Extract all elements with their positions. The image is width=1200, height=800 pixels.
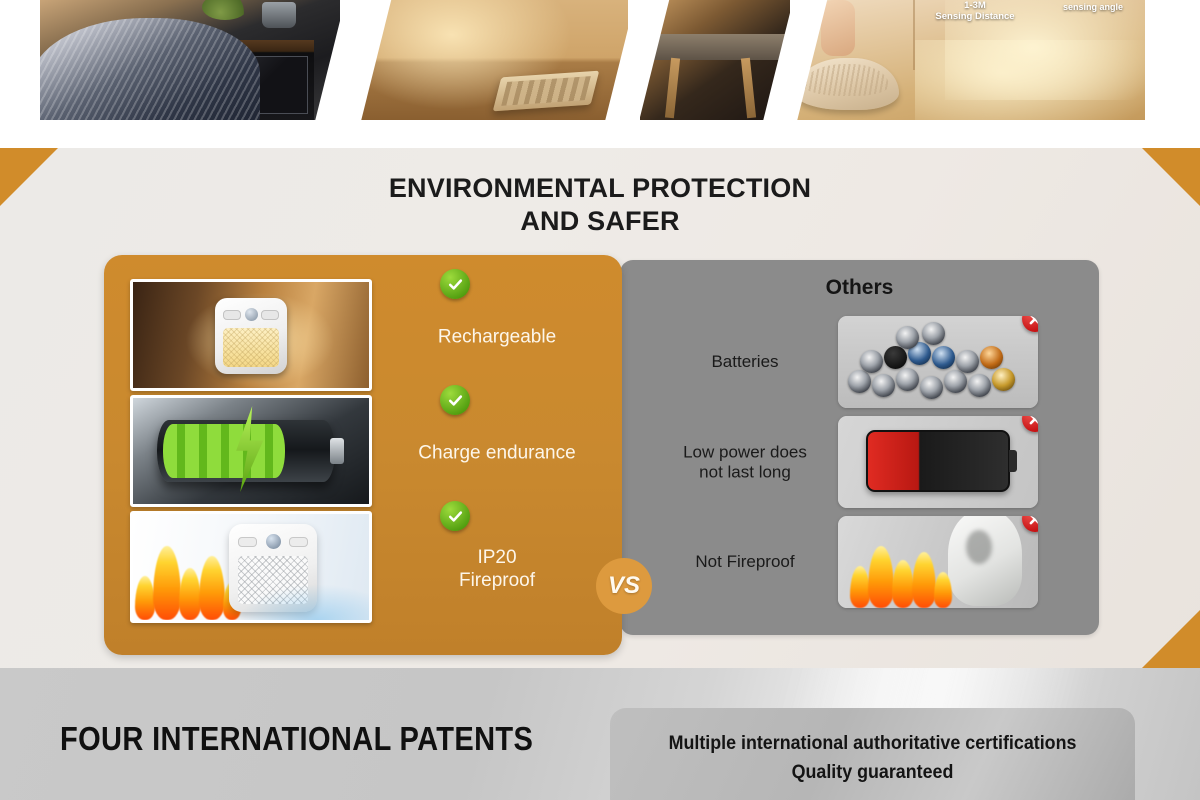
strip-base [0,120,1200,148]
certification-line2: Quality guaranteed [626,759,1120,788]
nightlight-image [133,282,369,388]
infographic-page: 1-3M Sensing Distance sensing angle ENVI… [0,0,1200,800]
certification-text: Multiple international authoritative cer… [626,730,1120,787]
depleted-battery-icon [866,430,1010,492]
decor-plant [202,0,248,20]
photo-bedroom-nightstand [40,0,340,120]
others-heading: Others [620,276,1099,300]
ours-row-label: IP20 Fireproof [394,546,600,592]
certification-line1: Multiple international authoritative cer… [626,730,1120,759]
ours-row-fireproof: IP20 Fireproof [104,511,622,627]
section-title-line2: AND SAFER [0,205,1200,238]
section-title-line1: ENVIRONMENTAL PROTECTION [0,172,1200,205]
water-splash [239,584,369,620]
others-row-notfireproof: Not Fireproof [620,516,1099,608]
sensing-distance-caption: Sensing Distance [920,12,1030,23]
photo-strip: 1-3M Sensing Distance sensing angle [0,0,1200,148]
comparison-section: ENVIRONMENTAL PROTECTION AND SAFER Other… [0,148,1200,668]
green-battery-image [133,398,369,504]
check-icon [440,385,470,415]
patents-heading: FOUR INTERNATIONAL PATENTS [60,720,533,758]
others-row-lowpower: Low power does not last long [620,416,1099,508]
charge-endurance-thumbnail [130,395,372,507]
photo-sensor-demo: 1-3M Sensing Distance sensing angle [795,0,1145,120]
vs-label: VS [608,572,640,600]
low-battery-thumbnail [838,416,1038,508]
vs-badge: VS [596,558,652,614]
check-icon [440,501,470,531]
leg [821,0,855,56]
decor-plaque [493,71,600,112]
bench-seat [646,34,790,60]
ours-row-label: Rechargeable [394,325,600,348]
ours-panel: Rechargeable Charge endurance [104,255,622,655]
section-title: ENVIRONMENTAL PROTECTION AND SAFER [0,172,1200,238]
ours-row-rechargeable: Rechargeable [104,279,622,395]
battery-terminal [330,438,344,464]
fireproof-thumbnail [130,511,372,623]
flames-icon [846,538,966,608]
ours-row-label: Charge endurance [394,441,600,464]
floor-glow [915,40,1145,120]
check-icon [440,269,470,299]
others-panel: Others Batteries [620,260,1099,635]
decor-pot [262,2,296,28]
batteries-image [838,316,1038,408]
others-row-batteries: Batteries [620,316,1099,408]
certification-badge: Multiple international authoritative cer… [610,708,1135,800]
sensing-angle-label: sensing angle [1045,2,1141,12]
bed-blanket [40,18,260,120]
others-row-label: Not Fireproof [640,552,850,572]
bench-leg [665,58,680,119]
others-row-label: Batteries [640,352,850,372]
burning-object-image [838,516,1038,608]
not-fireproof-thumbnail [838,516,1038,608]
flames-icon [133,528,243,620]
ours-row-endurance: Charge endurance [104,395,622,511]
fireproof-image [133,514,369,620]
low-battery-image [838,416,1038,508]
corner-accent-bottom-right [1142,610,1200,668]
rechargeable-thumbnail [130,279,372,391]
batteries-thumbnail [838,316,1038,408]
battery-charge-level [163,424,285,478]
bench-leg [741,58,756,119]
night-light-device [215,298,287,374]
photo-wall-glow [352,0,628,120]
others-row-label: Low power does not last long [640,442,850,481]
sensing-distance-label: 1-3M Sensing Distance [920,1,1030,22]
